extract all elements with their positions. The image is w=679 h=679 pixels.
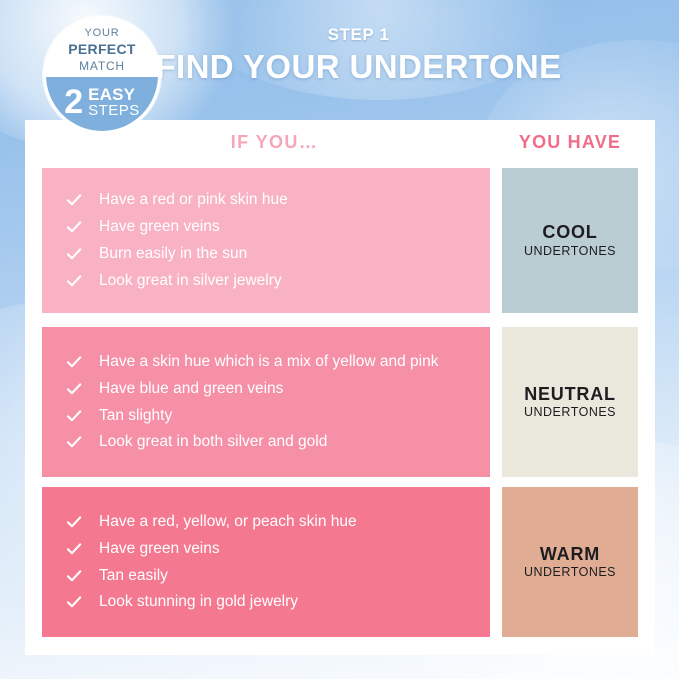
criteria-band: Have a skin hue which is a mix of yellow… <box>42 327 490 477</box>
criteria-band: Have a red or pink skin hue Have green v… <box>42 168 490 313</box>
badge-top-half: YOUR PERFECT MATCH <box>46 19 158 77</box>
criteria-text: Tan easily <box>99 566 474 586</box>
undertone-swatch: COOL UNDERTONES <box>502 168 638 313</box>
criteria-text: Look stunning in gold jewelry <box>99 592 474 612</box>
undertone-row: Have a red, yellow, or peach skin hue Ha… <box>42 487 638 637</box>
badge-match-label: MATCH <box>79 59 125 74</box>
undertone-sublabel: UNDERTONES <box>524 405 616 420</box>
check-icon <box>66 192 82 208</box>
undertone-sublabel: UNDERTONES <box>524 244 616 259</box>
result-column-heading: YOU HAVE <box>502 132 638 153</box>
list-item: Have green veins <box>66 539 474 559</box>
undertone-swatch: WARM UNDERTONES <box>502 487 638 637</box>
list-item: Tan easily <box>66 566 474 586</box>
check-icon <box>66 541 82 557</box>
list-item: Look stunning in gold jewelry <box>66 592 474 612</box>
check-icon <box>66 219 82 235</box>
criteria-text: Have a red, yellow, or peach skin hue <box>99 512 474 532</box>
perfect-match-badge: YOUR PERFECT MATCH 2 EASY STEPS <box>43 16 161 134</box>
check-icon <box>66 381 82 397</box>
check-icon <box>66 568 82 584</box>
undertone-name: COOL <box>542 222 597 243</box>
badge-step-count: 2 <box>64 86 83 118</box>
list-item: Tan slighty <box>66 406 474 426</box>
badge-steps-label: STEPS <box>88 103 140 118</box>
check-icon <box>66 594 82 610</box>
criteria-text: Have green veins <box>99 539 474 559</box>
badge-bottom-half: 2 EASY STEPS <box>46 77 158 131</box>
undertone-sublabel: UNDERTONES <box>524 565 616 580</box>
list-item: Have a red, yellow, or peach skin hue <box>66 512 474 532</box>
criteria-text: Have a red or pink skin hue <box>99 190 474 210</box>
list-item: Have a red or pink skin hue <box>66 190 474 210</box>
criteria-text: Tan slighty <box>99 406 474 426</box>
undertone-swatch: NEUTRAL UNDERTONES <box>502 327 638 477</box>
undertone-name: WARM <box>540 544 600 565</box>
criteria-column-heading: IF YOU… <box>42 132 507 153</box>
column-headings: IF YOU… YOU HAVE <box>25 132 655 166</box>
check-icon <box>66 273 82 289</box>
criteria-text: Look great in silver jewelry <box>99 271 474 291</box>
badge-steps-text: EASY STEPS <box>88 86 140 118</box>
list-item: Have green veins <box>66 217 474 237</box>
list-item: Burn easily in the sun <box>66 244 474 264</box>
infographic-poster: STEP 1 FIND YOUR UNDERTONE YOUR PERFECT … <box>0 0 679 679</box>
undertone-name: NEUTRAL <box>524 384 616 405</box>
badge-perfect-label: PERFECT <box>68 41 135 59</box>
badge-your-label: YOUR <box>85 27 120 41</box>
criteria-text: Burn easily in the sun <box>99 244 474 264</box>
check-icon <box>66 514 82 530</box>
undertone-row: Have a skin hue which is a mix of yellow… <box>42 327 638 477</box>
cloud-decoration <box>170 0 590 100</box>
list-item: Have a skin hue which is a mix of yellow… <box>66 352 474 372</box>
check-icon <box>66 434 82 450</box>
list-item: Have blue and green veins <box>66 379 474 399</box>
list-item: Look great in both silver and gold <box>66 432 474 452</box>
check-icon <box>66 246 82 262</box>
criteria-text: Have blue and green veins <box>99 379 474 399</box>
criteria-text: Have a skin hue which is a mix of yellow… <box>99 352 474 372</box>
criteria-text: Look great in both silver and gold <box>99 432 474 452</box>
criteria-text: Have green veins <box>99 217 474 237</box>
badge-easy-label: EASY <box>88 86 135 103</box>
check-icon <box>66 354 82 370</box>
list-item: Look great in silver jewelry <box>66 271 474 291</box>
criteria-band: Have a red, yellow, or peach skin hue Ha… <box>42 487 490 637</box>
check-icon <box>66 408 82 424</box>
undertone-row: Have a red or pink skin hue Have green v… <box>42 168 638 313</box>
